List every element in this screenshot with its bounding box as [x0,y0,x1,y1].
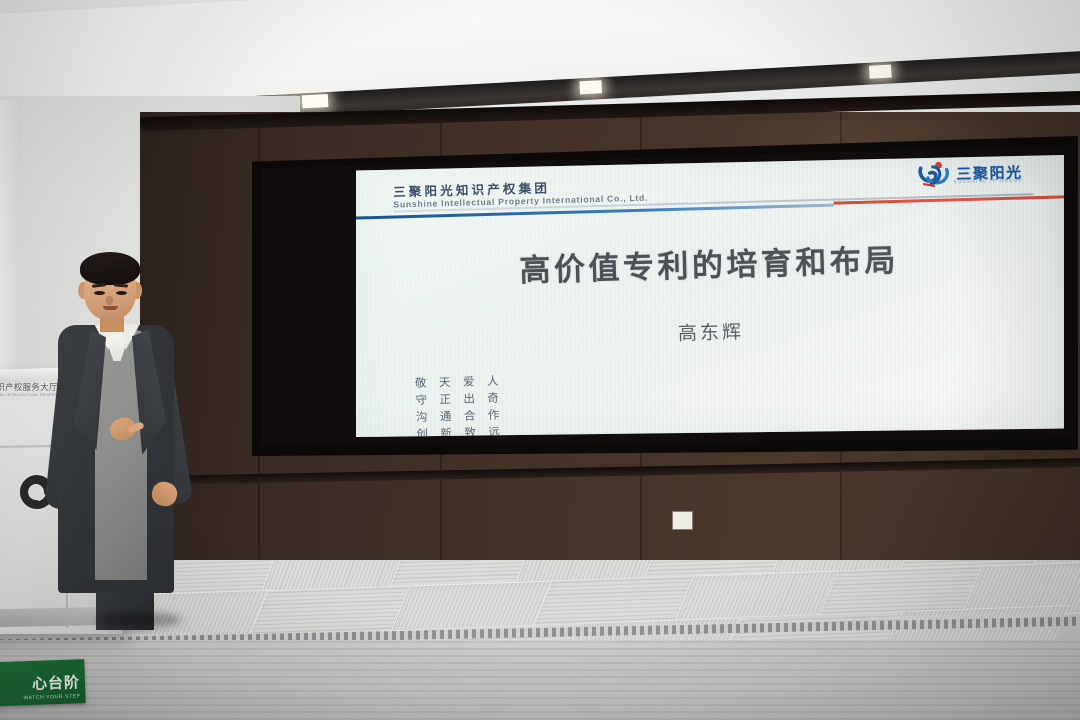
sunshine-swirl-logo-icon [916,160,951,188]
lower-floor [0,640,1080,720]
presentation-room-photo: 三聚阳光知识产权集团 Sunshine Intellectual Propert… [0,0,1080,720]
projected-slide: 三聚阳光知识产权集团 Sunshine Intellectual Propert… [356,155,1064,437]
sign-text-english: WATCH YOUR STEP [23,693,80,701]
speaker-eye-left [94,291,105,295]
calligraphy-char: 创 [411,426,432,437]
calligraphy-char: 出 [458,390,479,408]
calligraphy-char: 爱 [458,373,479,391]
calligraphy-char: 守 [410,392,431,410]
slide-title: 高价值专利的培育和布局 [356,230,1064,294]
calligraphy-char: 天 [434,374,455,392]
slide-author: 高东辉 [357,308,1064,354]
speaker-mouth [103,306,118,310]
sign-text-chinese: 心台阶 [32,671,81,694]
ceiling-downlight [302,94,329,108]
speaker-nose [106,296,113,305]
calligraphy-char: 通 [435,408,456,426]
calligraphy-char: 致 [459,424,480,437]
calligraphy-char: 人 [482,373,503,391]
calligraphy-char: 敬 [410,375,431,393]
calligraphy-char: 作 [483,407,504,425]
speaker-eye-right [116,291,127,295]
calligraphy-char: 沟 [411,409,432,427]
left-wall-edge [0,100,22,400]
watch-your-step-sign: 心台阶 WATCH YOUR STEP [0,659,86,707]
ceiling-downlight [579,80,602,94]
wall-socket-plate [672,511,693,530]
speaker-hair [80,252,140,285]
calligraphy-char: 正 [434,391,455,409]
ceiling-downlight [869,65,892,79]
slide-content: 三聚阳光知识产权集团 Sunshine Intellectual Propert… [356,155,1064,437]
calligraphy-char: 奇 [482,390,503,408]
calligraphy-char: 新 [435,425,456,437]
lower-floor-texture [0,640,1080,720]
calligraphy-char: 远 [483,424,504,437]
slide-calligraphy-block: 敬 天 爱 人 守 正 出 奇 沟 通 合 作 创 新 致 远 [410,373,505,437]
speaker-floor-shadow [96,612,182,628]
calligraphy-char: 合 [459,407,480,425]
